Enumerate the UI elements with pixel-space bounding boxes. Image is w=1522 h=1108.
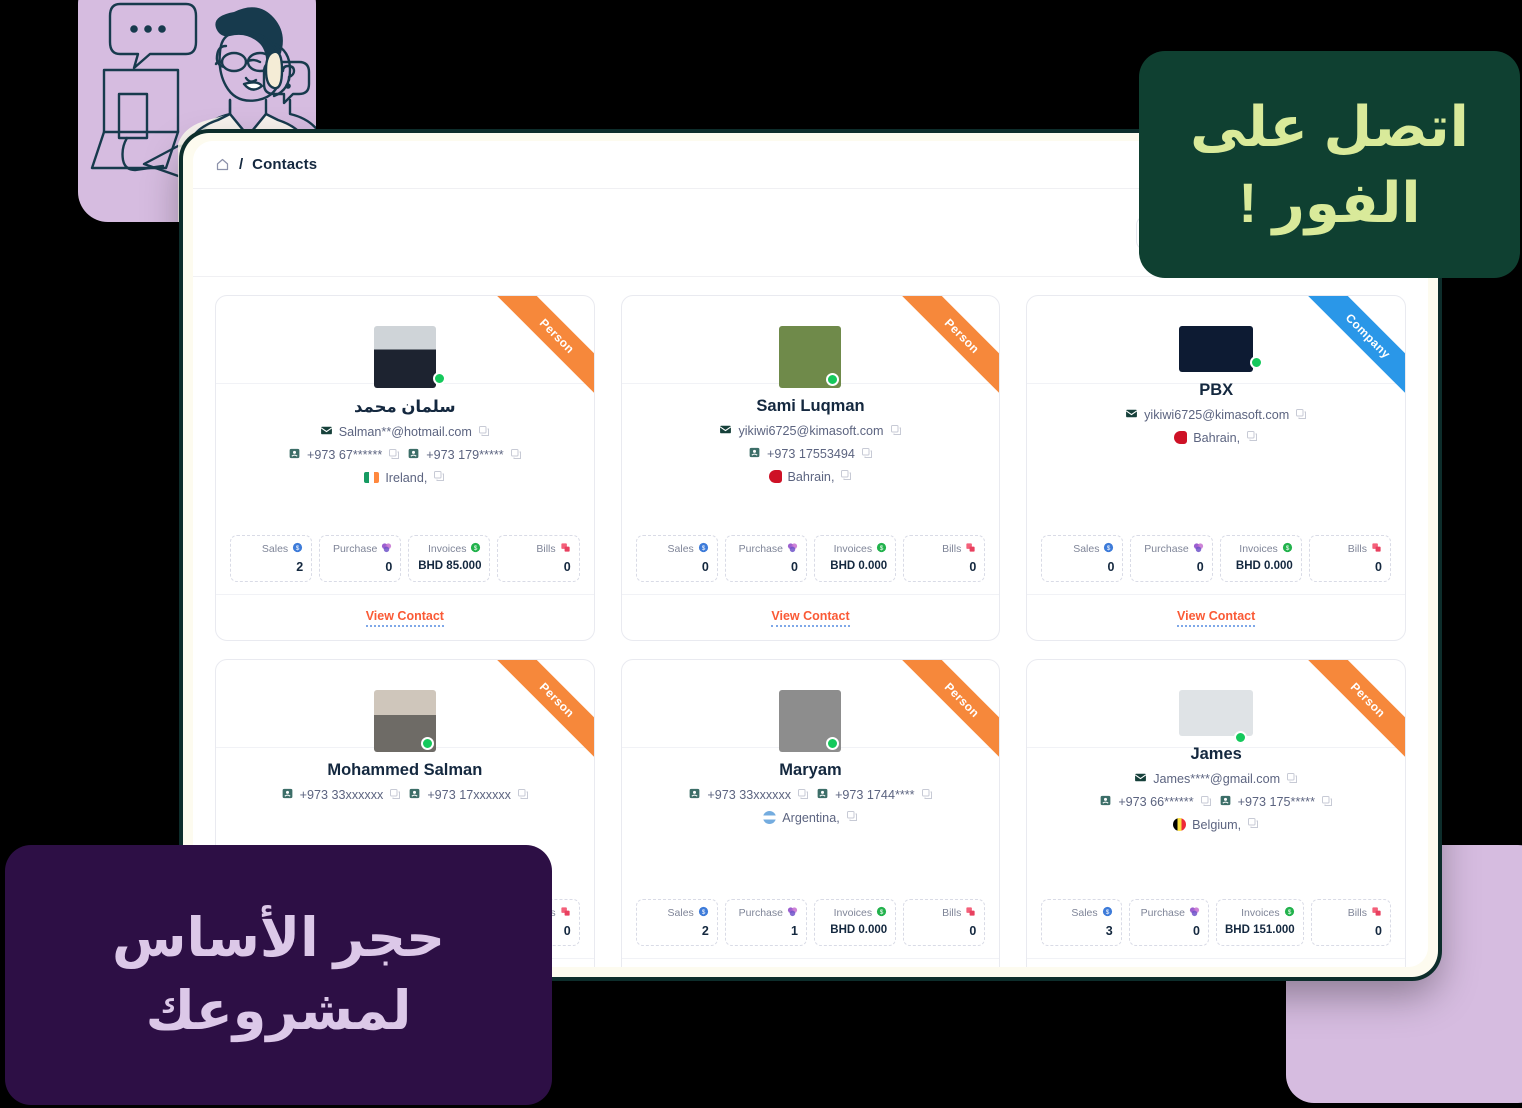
email-row[interactable]: yikiwi6725@kimasoft.com [1125, 407, 1307, 423]
stat-sales[interactable]: Sales$3 [1041, 899, 1121, 946]
stat-label: Invoices [1239, 543, 1278, 555]
stats-row: Sales$0Purchase0Invoices$BHD 0.000Bills0 [1041, 535, 1391, 582]
stats-row: Sales$3Purchase0Invoices$BHD 151.000Bill… [1041, 899, 1391, 946]
stat-purchase[interactable]: Purchase1 [725, 899, 807, 946]
phone-value: +973 67****** [307, 448, 382, 462]
card-body: Maryam+973 33xxxxxx+973 1744****Argentin… [622, 748, 1000, 958]
phone-value: +973 17553494 [767, 447, 855, 461]
home-icon[interactable] [215, 157, 230, 172]
contact-name: James [1190, 745, 1241, 764]
phone-value: +973 66****** [1118, 795, 1193, 809]
stat-label: Bills [942, 907, 961, 919]
stats-row: Sales$2Purchase1Invoices$BHD 0.000Bills0 [636, 899, 986, 946]
invoices-icon: $ [876, 906, 887, 920]
view-contact-link[interactable]: View Contact [366, 609, 444, 627]
stat-label: Purchase [333, 543, 377, 555]
copy-icon[interactable] [389, 788, 401, 803]
badge-cornerstone: حجر الأساس لمشروعك [5, 845, 552, 1105]
card-footer: View Contact [622, 594, 1000, 640]
email-value: yikiwi6725@kimasoft.com [738, 424, 883, 438]
stat-invoices[interactable]: Invoices$BHD 85.000 [408, 535, 490, 582]
stat-label: Bills [1348, 543, 1367, 555]
avatar [1179, 326, 1253, 372]
phone-icon [688, 787, 701, 803]
phone-icon [748, 446, 761, 462]
avatar-wrap [374, 326, 436, 388]
card-body: سلمان محمدSalman**@hotmail.com+973 67***… [216, 384, 594, 594]
phone-row[interactable]: +973 33xxxxxx+973 17xxxxxx [281, 787, 529, 803]
copy-icon[interactable] [797, 788, 809, 803]
phone-icon [281, 787, 294, 803]
phone-value: +973 33xxxxxx [300, 788, 384, 802]
copy-icon[interactable] [921, 788, 933, 803]
view-contact-link[interactable]: View Contact [1177, 609, 1255, 627]
copy-icon[interactable] [510, 448, 522, 463]
stat-sales[interactable]: Sales$0 [636, 535, 718, 582]
phone-icon [407, 447, 420, 463]
stat-sales[interactable]: Sales$2 [636, 899, 718, 946]
avatar-wrap [374, 690, 436, 752]
contact-name: Maryam [779, 761, 841, 780]
svg-text:$: $ [296, 545, 300, 552]
stat-purchase[interactable]: Purchase0 [319, 535, 401, 582]
svg-text:$: $ [702, 545, 706, 552]
email-row[interactable]: Salman**@hotmail.com [320, 424, 490, 440]
invoices-icon: $ [470, 542, 481, 556]
bills-icon [560, 906, 571, 920]
stat-value: 0 [328, 560, 392, 574]
country-row[interactable]: Ireland, [364, 470, 445, 485]
svg-text:$: $ [1286, 545, 1290, 552]
invoices-icon: $ [1282, 542, 1293, 556]
purchase-icon [1189, 906, 1200, 920]
country-row[interactable]: Bahrain, [1174, 430, 1258, 445]
sales-icon: $ [1102, 906, 1113, 920]
phone-value: +973 179***** [426, 448, 503, 462]
copy-icon[interactable] [517, 788, 529, 803]
svg-text:$: $ [474, 545, 478, 552]
country-value: Bahrain, [788, 470, 835, 484]
stats-row: Sales$0Purchase0Invoices$BHD 0.000Bills0 [636, 535, 986, 582]
stat-label: Bills [536, 543, 555, 555]
country-flag-icon [364, 472, 379, 483]
stat-value: 0 [1318, 560, 1382, 574]
contact-name: Mohammed Salman [327, 761, 482, 780]
country-row[interactable]: Belgium, [1173, 817, 1259, 832]
stat-label: Sales [1071, 907, 1097, 919]
stat-bills[interactable]: Bills0 [1311, 899, 1391, 946]
stat-label: Invoices [428, 543, 467, 555]
phone-icon [1219, 794, 1232, 810]
purchase-icon [1193, 542, 1204, 556]
mail-icon [320, 424, 333, 440]
stat-label: Sales [668, 907, 694, 919]
stat-label: Bills [1348, 907, 1367, 919]
stat-value: 0 [1139, 560, 1203, 574]
stat-bills[interactable]: Bills0 [903, 535, 985, 582]
bills-icon [965, 542, 976, 556]
copy-icon[interactable] [1321, 795, 1333, 810]
phone-row[interactable]: +973 66******+973 175***** [1099, 794, 1333, 810]
phone-icon [408, 787, 421, 803]
phone-row[interactable]: +973 17553494 [748, 446, 873, 462]
stat-purchase[interactable]: Purchase0 [1130, 535, 1212, 582]
stat-label: Sales [1073, 543, 1099, 555]
contact-card[interactable]: PersonSami Luqmanyikiwi6725@kimasoft.com… [621, 295, 1001, 641]
copy-icon[interactable] [1200, 795, 1212, 810]
contact-card[interactable]: PersonMaryam+973 33xxxxxx+973 1744****Ar… [621, 659, 1001, 967]
sales-icon: $ [698, 906, 709, 920]
copy-icon[interactable] [1286, 772, 1298, 787]
avatar-wrap [1179, 690, 1253, 736]
sales-icon: $ [698, 542, 709, 556]
copy-icon[interactable] [433, 470, 445, 485]
mail-icon [719, 423, 732, 439]
sales-icon: $ [1103, 542, 1114, 556]
email-value: yikiwi6725@kimasoft.com [1144, 408, 1289, 422]
country-row[interactable]: Bahrain, [769, 469, 853, 484]
stat-label: Invoices [1241, 907, 1280, 919]
stat-invoices[interactable]: Invoices$BHD 0.000 [814, 899, 896, 946]
card-footer: View Contact [622, 958, 1000, 967]
contact-card[interactable]: PersonJamesJames****@gmail.com+973 66***… [1026, 659, 1406, 967]
stat-label: Purchase [739, 543, 783, 555]
stat-label: Purchase [1141, 907, 1185, 919]
stat-sales[interactable]: Sales$2 [230, 535, 312, 582]
stat-value: 2 [239, 560, 303, 574]
svg-text:$: $ [880, 545, 884, 552]
stat-value: 0 [506, 560, 570, 574]
country-row[interactable]: Argentina, [763, 810, 857, 825]
country-value: Argentina, [782, 811, 839, 825]
svg-text:$: $ [1287, 909, 1291, 916]
stat-value: BHD 0.000 [823, 560, 887, 572]
invoices-icon: $ [1284, 906, 1295, 920]
bills-icon [1371, 906, 1382, 920]
stat-purchase[interactable]: Purchase0 [1129, 899, 1209, 946]
stat-value: 2 [645, 924, 709, 938]
bills-icon [560, 542, 571, 556]
phone-value: +973 1744**** [835, 788, 915, 802]
avatar-wrap [779, 326, 841, 388]
card-footer: View Contact [1027, 958, 1405, 967]
stat-purchase[interactable]: Purchase0 [725, 535, 807, 582]
phone-icon [816, 787, 829, 803]
copy-icon[interactable] [1246, 430, 1258, 445]
country-flag-icon [763, 811, 776, 824]
svg-text:$: $ [880, 909, 884, 916]
svg-text:$: $ [1105, 909, 1109, 916]
online-status-dot [433, 372, 446, 385]
copy-icon[interactable] [478, 425, 490, 440]
phone-row[interactable]: +973 33xxxxxx+973 1744**** [688, 787, 932, 803]
svg-text:$: $ [702, 909, 706, 916]
avatar-wrap [1179, 326, 1253, 372]
purchase-icon [787, 906, 798, 920]
stat-value: 0 [1138, 924, 1200, 938]
mail-icon [1125, 407, 1138, 423]
stat-bills[interactable]: Bills0 [1309, 535, 1391, 582]
stat-value: 0 [912, 560, 976, 574]
stat-value: 0 [912, 924, 976, 938]
country-value: Ireland, [385, 471, 427, 485]
stat-value: BHD 85.000 [417, 560, 481, 572]
phone-icon [1099, 794, 1112, 810]
stat-value: 3 [1050, 924, 1112, 938]
card-body: Sami Luqmanyikiwi6725@kimasoft.com+973 1… [622, 384, 1000, 594]
phone-icon [288, 447, 301, 463]
sales-icon: $ [292, 542, 303, 556]
copy-icon[interactable] [840, 469, 852, 484]
stat-value: 0 [734, 560, 798, 574]
stat-label: Purchase [739, 907, 783, 919]
country-flag-icon [1174, 431, 1187, 444]
mail-icon [1134, 771, 1147, 787]
stat-label: Invoices [834, 543, 873, 555]
card-footer: View Contact [1027, 594, 1405, 640]
contact-card[interactable]: CompanyPBXyikiwi6725@kimasoft.comBahrain… [1026, 295, 1406, 641]
phone-value: +973 175***** [1238, 795, 1315, 809]
country-value: Belgium, [1192, 818, 1241, 832]
copy-icon[interactable] [388, 448, 400, 463]
stat-bills[interactable]: Bills0 [497, 535, 579, 582]
stats-row: Sales$2Purchase0Invoices$BHD 85.000Bills… [230, 535, 580, 582]
phone-row[interactable]: +973 67******+973 179***** [288, 447, 522, 463]
copy-icon[interactable] [1295, 408, 1307, 423]
invoices-icon: $ [876, 542, 887, 556]
stat-label: Invoices [834, 907, 873, 919]
stat-value: 0 [645, 560, 709, 574]
purchase-icon [787, 542, 798, 556]
copy-icon[interactable] [890, 424, 902, 439]
copy-icon[interactable] [861, 447, 873, 462]
bills-icon [1371, 542, 1382, 556]
card-body: PBXyikiwi6725@kimasoft.comBahrain,Sales$… [1027, 384, 1405, 594]
phone-value: +973 33xxxxxx [707, 788, 791, 802]
avatar [1179, 690, 1253, 736]
country-value: Bahrain, [1193, 431, 1240, 445]
stat-value: 0 [1050, 560, 1114, 574]
stat-value: 0 [1320, 924, 1382, 938]
purchase-icon [381, 542, 392, 556]
country-flag-icon [769, 470, 782, 483]
bills-icon [965, 906, 976, 920]
avatar [374, 326, 436, 388]
copy-icon[interactable] [846, 810, 858, 825]
contact-name: سلمان محمد [354, 397, 456, 417]
contact-card[interactable]: Personسلمان محمدSalman**@hotmail.com+973… [215, 295, 595, 641]
stat-label: Sales [262, 543, 288, 555]
svg-text:$: $ [1107, 545, 1111, 552]
stat-label: Sales [668, 543, 694, 555]
stat-invoices[interactable]: Invoices$BHD 151.000 [1216, 899, 1304, 946]
email-value: Salman**@hotmail.com [339, 425, 472, 439]
email-value: James****@gmail.com [1153, 772, 1280, 786]
phone-value: +973 17xxxxxx [427, 788, 511, 802]
stat-invoices[interactable]: Invoices$BHD 0.000 [1220, 535, 1302, 582]
stat-value: BHD 151.000 [1225, 924, 1295, 936]
breadcrumb-separator: / [239, 156, 243, 173]
stat-label: Bills [942, 543, 961, 555]
card-body: JamesJames****@gmail.com+973 66******+97… [1027, 748, 1405, 958]
email-row[interactable]: James****@gmail.com [1134, 771, 1298, 787]
page-title: Contacts [252, 156, 317, 173]
online-status-dot [421, 737, 434, 750]
view-contact-link[interactable]: View Contact [771, 609, 849, 627]
stat-sales[interactable]: Sales$0 [1041, 535, 1123, 582]
copy-icon[interactable] [1247, 817, 1259, 832]
avatar-wrap [779, 690, 841, 752]
contact-name: Sami Luqman [756, 397, 864, 416]
stat-value: BHD 0.000 [823, 924, 887, 936]
card-footer: View Contact [216, 594, 594, 640]
stat-value: BHD 0.000 [1229, 560, 1293, 572]
contact-name: PBX [1199, 381, 1233, 400]
badge-call-now: اتصل على الفور ! [1139, 51, 1520, 278]
stat-bills[interactable]: Bills0 [903, 899, 985, 946]
stat-value: 1 [734, 924, 798, 938]
country-flag-icon [1173, 818, 1186, 831]
stat-label: Purchase [1144, 543, 1188, 555]
stat-invoices[interactable]: Invoices$BHD 0.000 [814, 535, 896, 582]
email-row[interactable]: yikiwi6725@kimasoft.com [719, 423, 901, 439]
